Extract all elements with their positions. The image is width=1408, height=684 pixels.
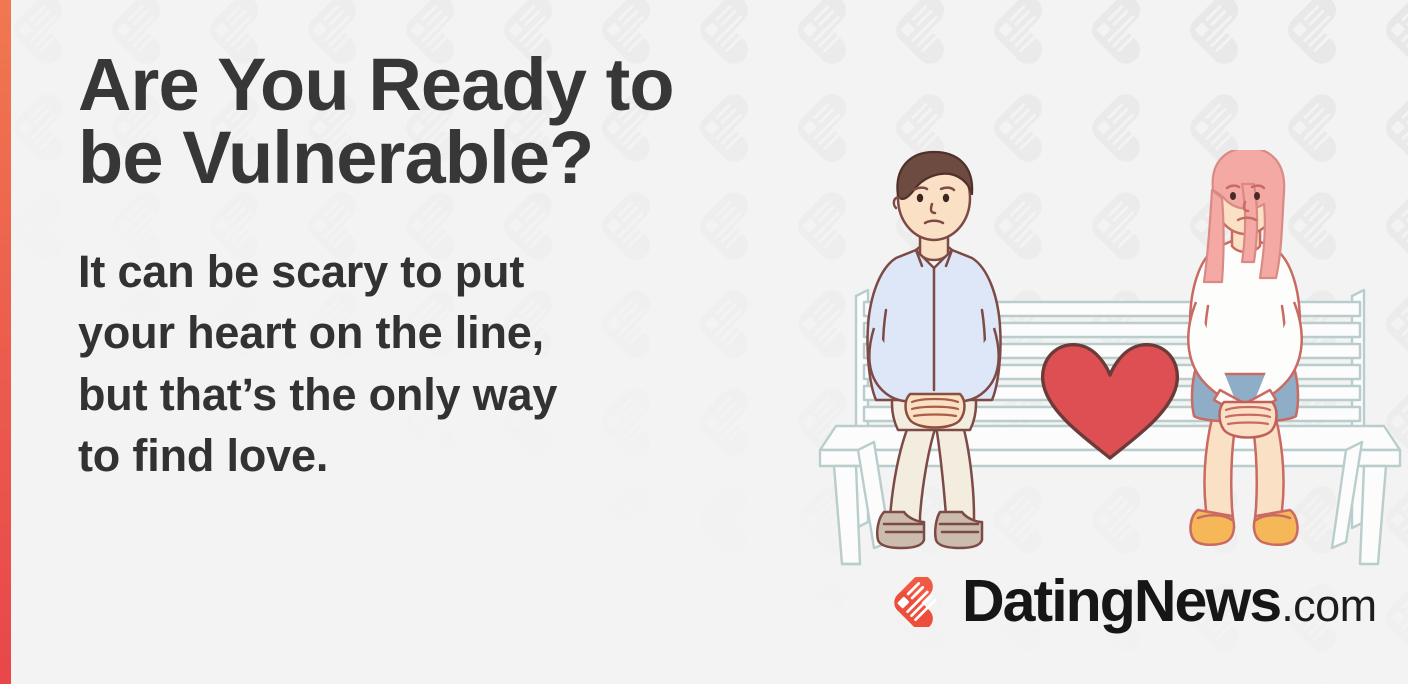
logo-word-main: DatingNews	[962, 572, 1280, 631]
woman-figure	[1188, 150, 1301, 545]
datingnews-logo[interactable]: DatingNews .com	[893, 572, 1377, 631]
heart-newspaper-icon	[893, 577, 949, 627]
logo-wordmark: DatingNews .com	[962, 572, 1377, 631]
couple-on-bench-illustration: .bo { fill:none; stroke:#b9cdcd; stroke-…	[812, 150, 1408, 570]
logo-word-tld: .com	[1281, 583, 1376, 628]
subtitle-text: It can be scary to put your heart on the…	[78, 241, 898, 488]
text-block: Are You Ready to be Vulnerable? It can b…	[78, 48, 898, 487]
page-title: Are You Ready to be Vulnerable?	[78, 48, 898, 195]
left-accent-bar	[0, 0, 11, 684]
datingnews-promo-banner: .bo { fill:none; stroke:#b9cdcd; stroke-…	[0, 0, 1408, 684]
